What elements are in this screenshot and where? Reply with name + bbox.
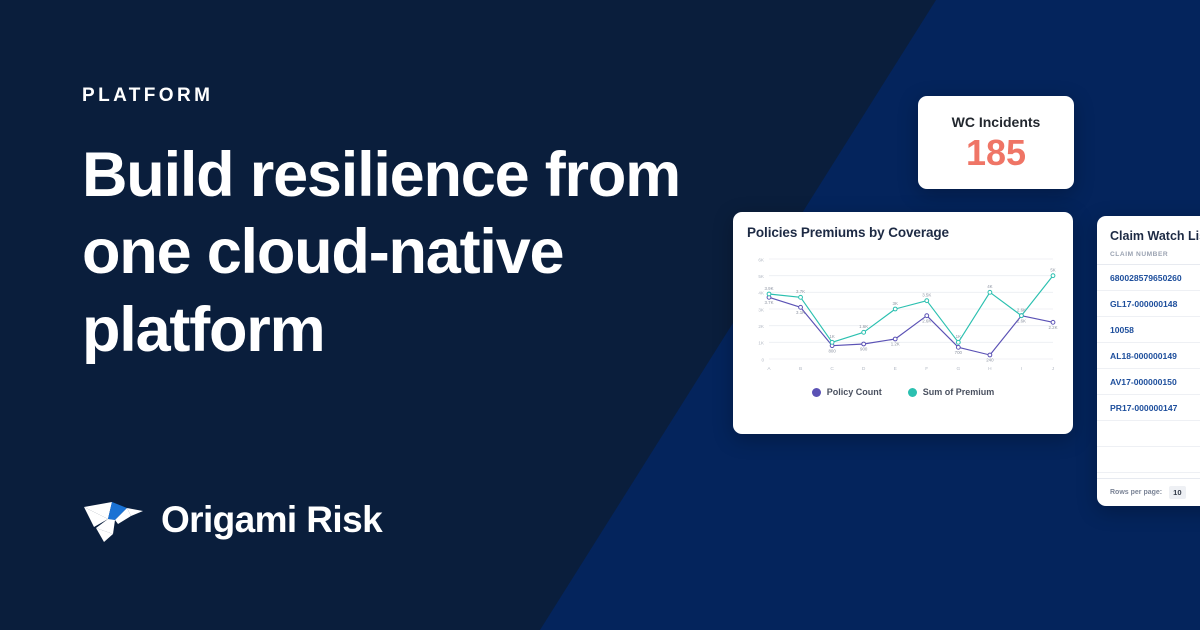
legend-color-dot	[908, 388, 917, 397]
svg-text:2.6K: 2.6K	[1017, 307, 1026, 312]
brand-name: Origami Risk	[161, 499, 382, 541]
svg-text:3.7K: 3.7K	[796, 289, 805, 294]
chart-title: Policies Premiums by Coverage	[747, 225, 1059, 240]
legend-label: Policy Count	[827, 387, 882, 397]
svg-text:700: 700	[955, 350, 963, 355]
claims-title: Claim Watch List	[1097, 229, 1200, 243]
svg-text:3.1K: 3.1K	[796, 310, 805, 315]
svg-text:5K: 5K	[1050, 267, 1055, 272]
page-title: Build resilience from one cloud-native p…	[82, 137, 722, 369]
svg-text:1K: 1K	[758, 341, 765, 346]
svg-text:240: 240	[986, 358, 994, 363]
legend-item-policy-count[interactable]: Policy Count	[812, 387, 882, 397]
chart-legend: Policy Count Sum of Premium	[747, 387, 1059, 397]
svg-text:I: I	[1021, 366, 1022, 372]
rows-per-page-value[interactable]: 10	[1169, 486, 1185, 499]
svg-text:0: 0	[761, 357, 764, 362]
claim-row[interactable]: AV17-000000150	[1097, 369, 1200, 395]
svg-text:1K: 1K	[829, 334, 834, 339]
svg-text:800: 800	[828, 348, 836, 353]
claim-row[interactable]: AL18-000000149	[1097, 343, 1200, 369]
svg-text:2.2K: 2.2K	[1048, 325, 1057, 330]
svg-text:2.6K: 2.6K	[922, 318, 931, 323]
svg-text:2.6K: 2.6K	[1017, 318, 1026, 323]
svg-text:3.9K: 3.9K	[764, 286, 773, 291]
kpi-title: WC Incidents	[952, 114, 1041, 130]
claim-row-empty	[1097, 421, 1200, 447]
svg-text:1.6K: 1.6K	[859, 324, 868, 329]
claim-row[interactable]: PR17-000000147	[1097, 395, 1200, 421]
svg-text:4K: 4K	[987, 284, 992, 289]
claim-row[interactable]: 10058	[1097, 317, 1200, 343]
policies-premiums-chart-card: Policies Premiums by Coverage 01K2K3K4K5…	[733, 212, 1073, 434]
claim-row-empty	[1097, 447, 1200, 473]
claim-row[interactable]: 680028579650260	[1097, 265, 1200, 291]
origami-bird-icon	[82, 494, 144, 546]
svg-text:J: J	[1052, 366, 1055, 372]
svg-text:D: D	[862, 366, 866, 372]
rows-per-page-label: Rows per page:	[1110, 489, 1162, 496]
kpi-value: 185	[966, 135, 1026, 171]
eyebrow-label: PLATFORM	[82, 85, 722, 107]
svg-text:G: G	[956, 366, 960, 372]
chart-plot-area: 01K2K3K4K5K6KABCDEFGHIJ3.7K3.1K8009001.2…	[747, 251, 1059, 377]
claim-row[interactable]: GL17-000000148	[1097, 291, 1200, 317]
brand-logo: Origami Risk	[82, 494, 382, 546]
svg-text:H: H	[988, 366, 992, 372]
svg-text:2K: 2K	[758, 324, 765, 329]
claim-watch-list-card: Claim Watch List CLAIM NUMBER 6800285796…	[1097, 216, 1200, 506]
svg-text:B: B	[799, 366, 802, 372]
svg-text:900: 900	[860, 347, 868, 352]
claims-row-list: 680028579650260GL17-00000014810058AL18-0…	[1097, 265, 1200, 473]
svg-text:1.2K: 1.2K	[891, 342, 900, 347]
svg-text:C: C	[830, 366, 834, 372]
svg-text:4K: 4K	[758, 291, 765, 296]
line-chart-svg: 01K2K3K4K5K6KABCDEFGHIJ3.7K3.1K8009001.2…	[747, 251, 1059, 377]
svg-text:5K: 5K	[758, 274, 765, 279]
claims-column-header: CLAIM NUMBER	[1097, 243, 1200, 265]
legend-item-sum-of-premium[interactable]: Sum of Premium	[908, 387, 995, 397]
legend-label: Sum of Premium	[923, 387, 995, 397]
svg-text:F: F	[925, 366, 928, 372]
legend-color-dot	[812, 388, 821, 397]
svg-text:6K: 6K	[758, 257, 765, 262]
svg-text:3.7K: 3.7K	[764, 300, 773, 305]
svg-text:3K: 3K	[758, 307, 765, 312]
svg-text:3K: 3K	[893, 301, 898, 306]
svg-text:1K: 1K	[956, 334, 961, 339]
svg-text:3.5K: 3.5K	[922, 292, 931, 297]
svg-text:E: E	[894, 366, 897, 372]
svg-text:A: A	[767, 366, 771, 372]
claims-pagination-footer: Rows per page: 10	[1097, 478, 1200, 506]
wc-incidents-kpi-card: WC Incidents 185	[918, 96, 1074, 189]
